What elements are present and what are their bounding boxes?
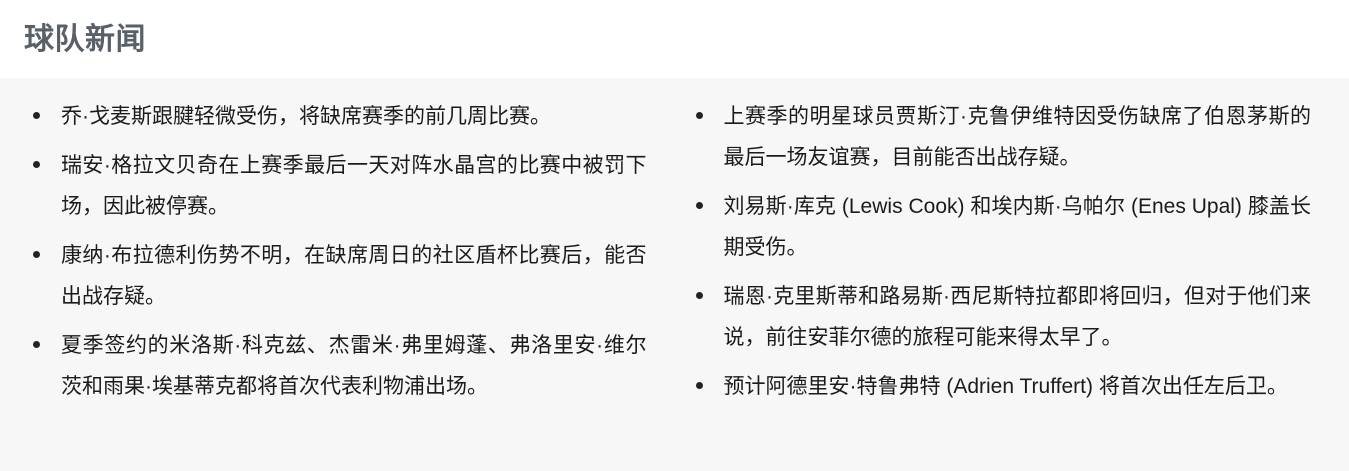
news-item-text: 夏季签约的米洛斯·科克兹、杰雷米·弗里姆蓬、弗洛里安·维尔茨和雨果·埃基蒂克都将…: [61, 325, 647, 407]
news-column-left: 乔·戈麦斯跟腱轻微受伤，将缺席赛季的前几周比赛。 瑞安·格拉文贝奇在上赛季最后一…: [0, 96, 675, 415]
bullet-dot-icon: [33, 325, 61, 366]
news-list-right: 上赛季的明星球员贾斯汀·克鲁伊维特因受伤缺席了伯恩茅斯的最后一场友谊赛，目前能否…: [675, 96, 1340, 407]
team-news-panel: 乔·戈麦斯跟腱轻微受伤，将缺席赛季的前几周比赛。 瑞安·格拉文贝奇在上赛季最后一…: [0, 78, 1349, 471]
news-item-text: 预计阿德里安·特鲁弗特 (Adrien Truffert) 将首次出任左后卫。: [724, 366, 1312, 407]
list-item: 刘易斯·库克 (Lewis Cook) 和埃内斯·乌帕尔 (Enes Upal)…: [696, 186, 1312, 268]
bullet-dot-icon: [696, 186, 724, 227]
page-header: 球队新闻: [0, 0, 1349, 78]
news-column-right: 上赛季的明星球员贾斯汀·克鲁伊维特因受伤缺席了伯恩茅斯的最后一场友谊赛，目前能否…: [675, 96, 1349, 415]
news-item-text: 瑞安·格拉文贝奇在上赛季最后一天对阵水晶宫的比赛中被罚下场，因此被停赛。: [61, 145, 647, 227]
page-title: 球队新闻: [24, 23, 146, 56]
list-item: 乔·戈麦斯跟腱轻微受伤，将缺席赛季的前几周比赛。: [33, 96, 647, 137]
bullet-dot-icon: [696, 96, 724, 137]
list-item: 上赛季的明星球员贾斯汀·克鲁伊维特因受伤缺席了伯恩茅斯的最后一场友谊赛，目前能否…: [696, 96, 1312, 178]
list-item: 康纳·布拉德利伤势不明，在缺席周日的社区盾杯比赛后，能否出战存疑。: [33, 235, 647, 317]
news-item-text: 上赛季的明星球员贾斯汀·克鲁伊维特因受伤缺席了伯恩茅斯的最后一场友谊赛，目前能否…: [724, 96, 1312, 178]
news-item-text: 刘易斯·库克 (Lewis Cook) 和埃内斯·乌帕尔 (Enes Upal)…: [724, 186, 1312, 268]
team-news-page: 球队新闻 乔·戈麦斯跟腱轻微受伤，将缺席赛季的前几周比赛。 瑞安·格拉文贝奇在上…: [0, 0, 1349, 471]
bullet-dot-icon: [33, 145, 61, 186]
list-item: 夏季签约的米洛斯·科克兹、杰雷米·弗里姆蓬、弗洛里安·维尔茨和雨果·埃基蒂克都将…: [33, 325, 647, 407]
list-item: 预计阿德里安·特鲁弗特 (Adrien Truffert) 将首次出任左后卫。: [696, 366, 1312, 407]
news-list-left: 乔·戈麦斯跟腱轻微受伤，将缺席赛季的前几周比赛。 瑞安·格拉文贝奇在上赛季最后一…: [0, 96, 665, 407]
bullet-dot-icon: [696, 276, 724, 317]
bullet-dot-icon: [33, 96, 61, 137]
news-item-text: 乔·戈麦斯跟腱轻微受伤，将缺席赛季的前几周比赛。: [61, 96, 647, 137]
list-item: 瑞安·格拉文贝奇在上赛季最后一天对阵水晶宫的比赛中被罚下场，因此被停赛。: [33, 145, 647, 227]
news-item-text: 康纳·布拉德利伤势不明，在缺席周日的社区盾杯比赛后，能否出战存疑。: [61, 235, 647, 317]
news-item-text: 瑞恩·克里斯蒂和路易斯·西尼斯特拉都即将回归，但对于他们来说，前往安菲尔德的旅程…: [724, 276, 1312, 358]
bullet-dot-icon: [33, 235, 61, 276]
list-item: 瑞恩·克里斯蒂和路易斯·西尼斯特拉都即将回归，但对于他们来说，前往安菲尔德的旅程…: [696, 276, 1312, 358]
bullet-dot-icon: [696, 366, 724, 407]
